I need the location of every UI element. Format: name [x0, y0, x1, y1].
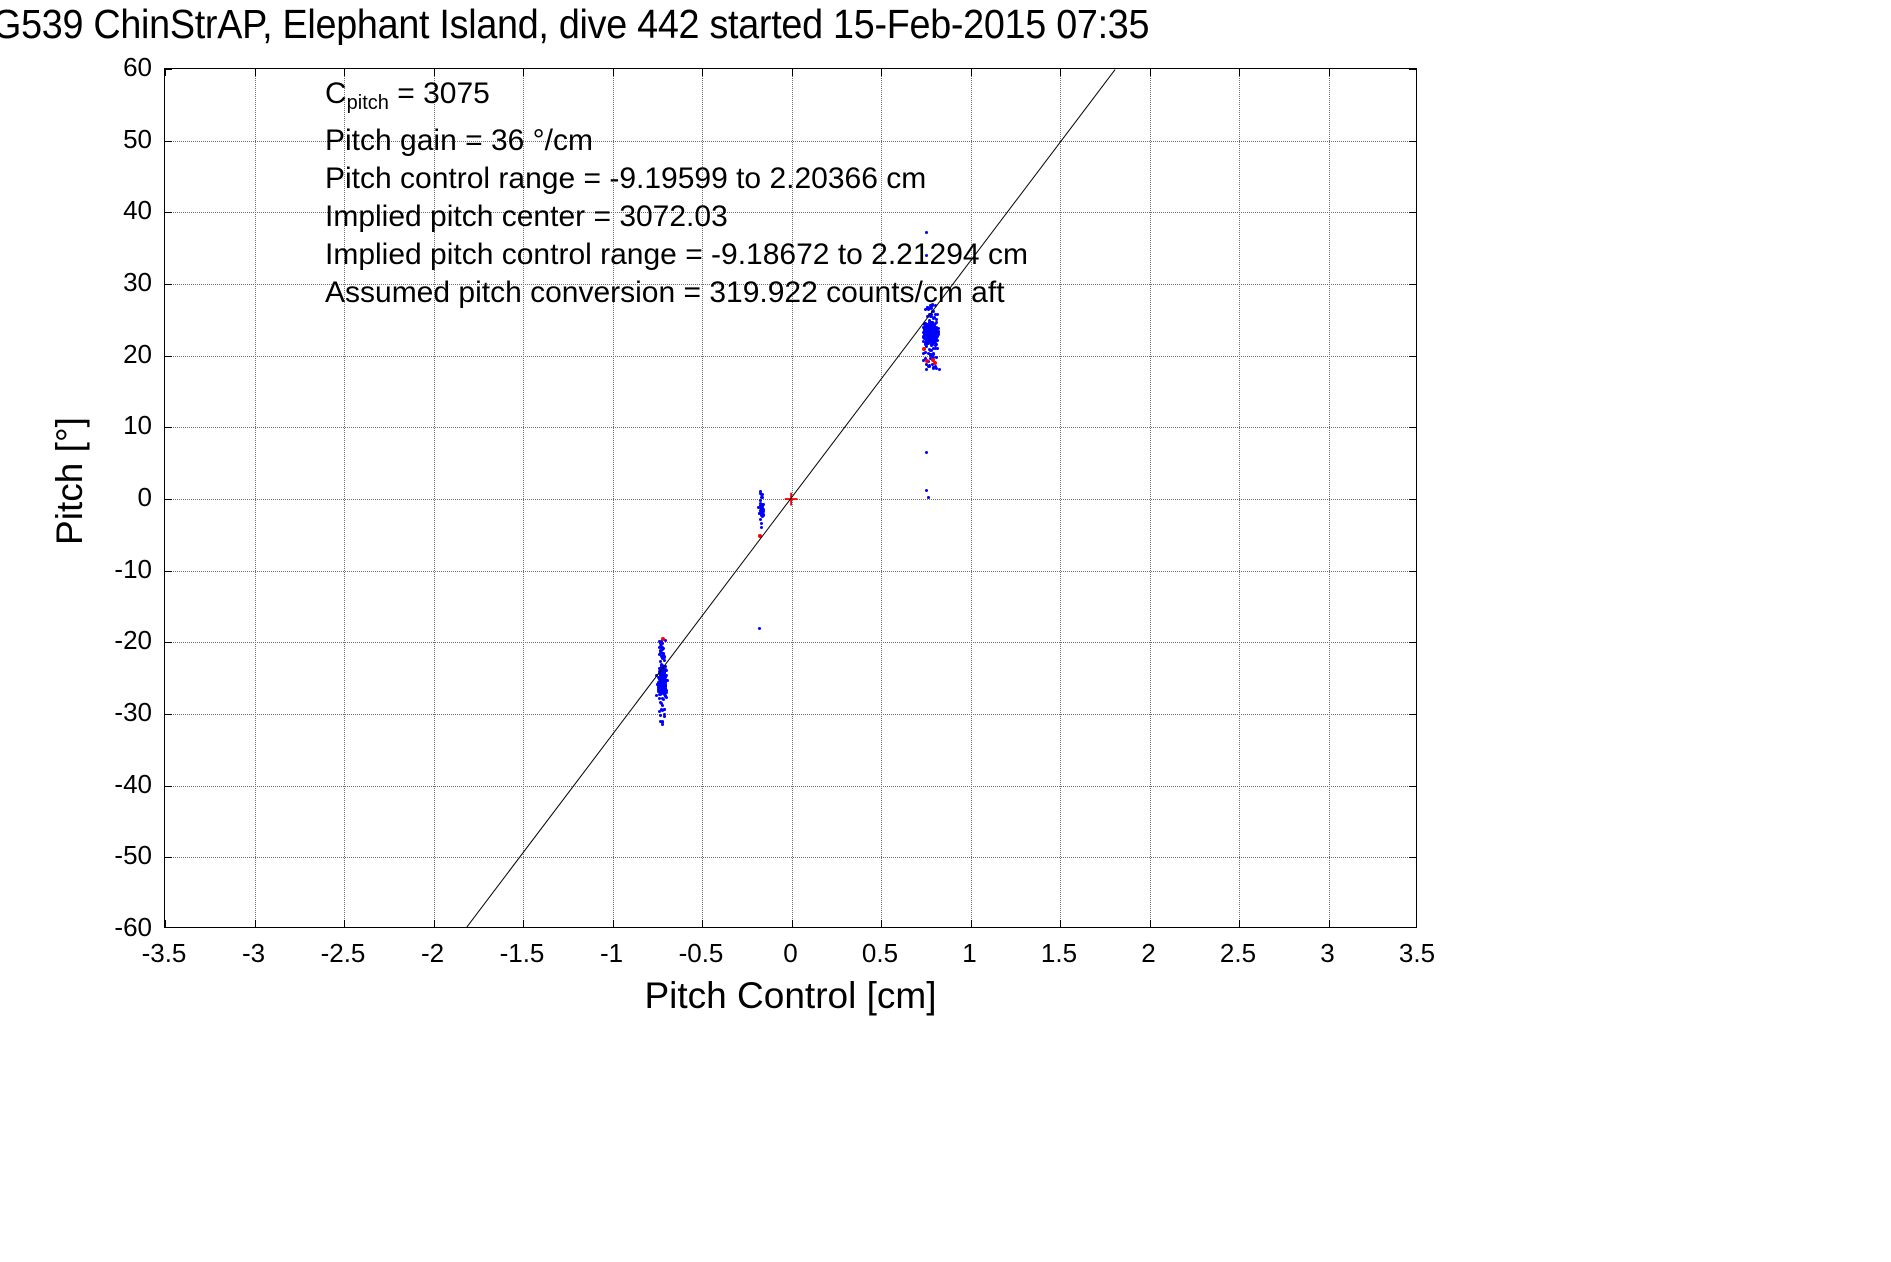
data-point [933, 361, 937, 365]
x-axis-tick [1329, 920, 1330, 927]
x-tick-label: 2 [1104, 938, 1194, 969]
data-point [662, 698, 665, 701]
x-axis-tick [523, 920, 524, 927]
y-axis-tick [1409, 427, 1416, 428]
x-axis-tick [792, 920, 793, 927]
x-tick-label: 3.5 [1372, 938, 1462, 969]
data-point [760, 522, 763, 525]
data-point [658, 697, 661, 700]
y-axis-tick [1409, 69, 1416, 70]
y-tick-label: -40 [82, 769, 152, 800]
x-axis-tick [1060, 920, 1061, 927]
x-axis-tick [1239, 69, 1240, 76]
x-tick-label: 2.5 [1193, 938, 1283, 969]
cpitch-subscript: pitch [347, 92, 389, 114]
x-tick-label: -2.5 [298, 938, 388, 969]
x-tick-label: 1 [925, 938, 1015, 969]
x-axis-tick [434, 920, 435, 927]
annotation-line-control-range: Pitch control range = -9.19599 to 2.2036… [325, 160, 1028, 198]
y-axis-tick [165, 141, 172, 142]
grid-line-vertical [1329, 69, 1330, 927]
x-axis-tick [1150, 69, 1151, 76]
grid-line-vertical [255, 69, 256, 927]
y-axis-tick [1409, 499, 1416, 500]
annotation-line-conversion: Assumed pitch conversion = 319.922 count… [325, 274, 1028, 312]
data-point [664, 685, 667, 688]
data-point [924, 326, 927, 329]
data-point [938, 368, 941, 371]
y-tick-label: 0 [82, 482, 152, 513]
grid-line-vertical [1239, 69, 1240, 927]
grid-line-horizontal [165, 714, 1416, 715]
y-axis-tick [165, 571, 172, 572]
y-axis-tick [1409, 642, 1416, 643]
x-axis-tick [1150, 920, 1151, 927]
cpitch-symbol: C [325, 77, 347, 110]
x-axis-tick [165, 69, 166, 76]
y-axis-tick [165, 642, 172, 643]
grid-line-horizontal [165, 642, 1416, 643]
data-point [922, 352, 925, 355]
x-tick-label: -2 [388, 938, 478, 969]
data-point [660, 689, 663, 692]
data-point [927, 496, 930, 499]
x-axis-tick [255, 69, 256, 76]
grid-line-horizontal [165, 427, 1416, 428]
data-point [933, 334, 936, 337]
chart-plot-area: + Cpitch = 3075 Pitch gain = 36 °/cm Pit… [164, 68, 1417, 928]
data-point [758, 627, 761, 630]
x-axis-tick [255, 920, 256, 927]
x-tick-label: 1.5 [1014, 938, 1104, 969]
data-point [933, 366, 936, 369]
y-axis-tick [1409, 571, 1416, 572]
data-point [761, 510, 764, 513]
y-axis-tick [165, 69, 172, 70]
data-point [665, 689, 668, 692]
data-point [759, 518, 762, 521]
page-title: G539 ChinStrAP, Elephant Island, dive 44… [0, 4, 1749, 45]
data-point [925, 451, 928, 454]
x-tick-label: 0 [746, 938, 836, 969]
y-axis-tick [165, 284, 172, 285]
y-tick-label: -50 [82, 840, 152, 871]
y-tick-label: -10 [82, 554, 152, 585]
x-axis-tick [881, 920, 882, 927]
y-tick-label: 50 [82, 124, 152, 155]
data-point [925, 359, 929, 363]
y-tick-label: 20 [82, 339, 152, 370]
grid-line-vertical [1060, 69, 1061, 927]
cpitch-value: = 3075 [389, 77, 490, 110]
data-point [659, 714, 662, 717]
y-axis-tick [165, 427, 172, 428]
x-tick-label: -1.5 [477, 938, 567, 969]
grid-line-horizontal [165, 786, 1416, 787]
x-axis-tick [613, 920, 614, 927]
y-tick-label: 40 [82, 195, 152, 226]
data-point [928, 336, 931, 339]
y-axis-tick [165, 356, 172, 357]
grid-line-horizontal [165, 356, 1416, 357]
x-tick-label: 0.5 [835, 938, 925, 969]
y-axis-tick [1409, 356, 1416, 357]
y-axis-tick [1409, 857, 1416, 858]
grid-line-horizontal [165, 857, 1416, 858]
grid-line-horizontal [165, 571, 1416, 572]
y-axis-tick [1409, 141, 1416, 142]
x-axis-tick [1060, 69, 1061, 76]
y-axis-tick [165, 714, 172, 715]
data-point [936, 333, 939, 336]
x-axis-tick [165, 920, 166, 927]
y-tick-label: -60 [82, 912, 152, 943]
data-point [928, 332, 931, 335]
x-tick-label: -3 [209, 938, 299, 969]
data-point [932, 337, 935, 340]
y-tick-label: 10 [82, 410, 152, 441]
data-point [922, 347, 926, 351]
x-tick-label: -1 [567, 938, 657, 969]
y-axis-tick [1409, 284, 1416, 285]
data-point [760, 526, 763, 529]
data-point [663, 677, 666, 680]
annotation-line-cpitch: Cpitch = 3075 [325, 75, 1028, 122]
x-axis-title: Pitch Control [cm] [164, 975, 1417, 1017]
data-point [934, 347, 937, 350]
data-point [663, 715, 666, 718]
data-point [935, 356, 938, 359]
data-point [659, 701, 662, 704]
y-axis-tick [165, 786, 172, 787]
data-point [936, 313, 939, 316]
x-axis-tick [1239, 920, 1240, 927]
y-tick-label: 60 [82, 52, 152, 83]
x-tick-label: 3 [1283, 938, 1373, 969]
y-tick-label: -30 [82, 697, 152, 728]
y-axis-tick [165, 857, 172, 858]
y-tick-label: 30 [82, 267, 152, 298]
data-point [665, 674, 668, 677]
annotation-block: Cpitch = 3075 Pitch gain = 36 °/cm Pitch… [325, 75, 1028, 312]
y-axis-tick [1409, 786, 1416, 787]
x-axis-tick [702, 920, 703, 927]
data-point [658, 710, 661, 713]
data-point [663, 708, 666, 711]
data-point [665, 696, 668, 699]
y-axis-tick [165, 499, 172, 500]
x-axis-tick [1329, 69, 1330, 76]
data-point [760, 496, 763, 499]
data-point [925, 368, 928, 371]
y-axis-title: Pitch [°] [49, 331, 91, 631]
data-point [759, 499, 762, 502]
x-tick-label: -0.5 [656, 938, 746, 969]
annotation-line-implied-range: Implied pitch control range = -9.18672 t… [325, 236, 1028, 274]
y-axis-tick [1409, 212, 1416, 213]
x-axis-tick [971, 920, 972, 927]
y-tick-label: -20 [82, 625, 152, 656]
data-point [925, 489, 928, 492]
grid-line-vertical [1150, 69, 1151, 927]
data-point [928, 364, 931, 367]
y-axis-tick [165, 212, 172, 213]
x-axis-tick [344, 920, 345, 927]
annotation-line-pitch-gain: Pitch gain = 36 °/cm [325, 122, 1028, 160]
y-axis-tick [1409, 714, 1416, 715]
data-point [661, 704, 664, 707]
annotation-line-implied-center: Implied pitch center = 3072.03 [325, 198, 1028, 236]
